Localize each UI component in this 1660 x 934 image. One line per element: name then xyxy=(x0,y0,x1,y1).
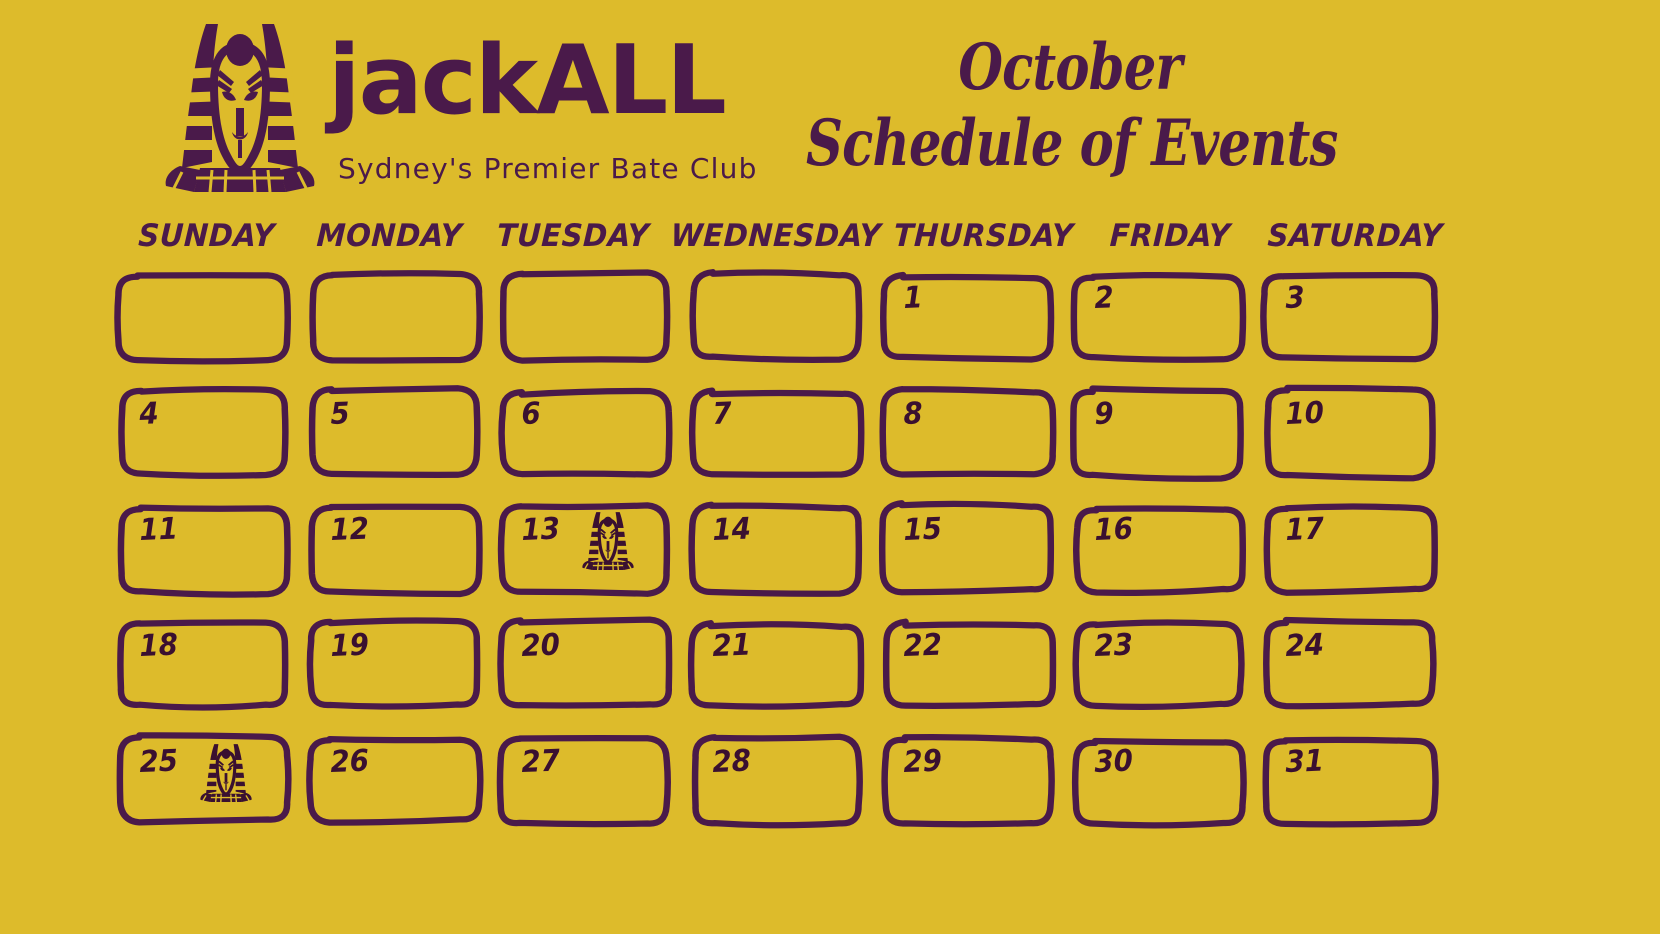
weekday-label: FRIDAY xyxy=(1109,218,1231,254)
calendar-day-18[interactable]: 18 xyxy=(113,616,304,732)
weekday-header-sunday: SUNDAY xyxy=(115,212,298,260)
day-number: 19 xyxy=(330,631,369,662)
anubis-head-icon xyxy=(160,12,320,192)
day-number: 4 xyxy=(139,399,159,430)
brand-tagline: Sydney's Premier Bate Club xyxy=(338,152,758,185)
day-number: 18 xyxy=(139,631,178,662)
calendar-day-empty[interactable] xyxy=(686,268,877,384)
day-cell-border xyxy=(690,272,863,362)
day-cell-border xyxy=(308,272,481,362)
day-number: 31 xyxy=(1285,747,1324,778)
calendar-day-15[interactable]: 15 xyxy=(877,500,1068,616)
day-cell-border xyxy=(117,272,290,362)
calendar-day-5[interactable]: 5 xyxy=(304,384,495,500)
day-number: 7 xyxy=(712,399,732,430)
day-number: 11 xyxy=(139,515,178,546)
day-number: 1 xyxy=(903,283,923,314)
weekday-label: WEDNESDAY xyxy=(670,218,882,254)
day-number: 13 xyxy=(521,515,560,546)
calendar-day-22[interactable]: 22 xyxy=(877,616,1068,732)
day-number: 30 xyxy=(1094,747,1133,778)
calendar-day-empty[interactable] xyxy=(113,268,304,384)
weekday-header-friday: FRIDAY xyxy=(1079,212,1262,260)
calendar-day-26[interactable]: 26 xyxy=(304,732,495,848)
calendar-day-14[interactable]: 14 xyxy=(686,500,877,616)
calendar-day-30[interactable]: 30 xyxy=(1068,732,1259,848)
calendar-day-29[interactable]: 29 xyxy=(877,732,1068,848)
calendar-day-19[interactable]: 19 xyxy=(304,616,495,732)
calendar-day-13[interactable]: 13 xyxy=(495,500,686,616)
day-number: 17 xyxy=(1285,515,1324,546)
day-number: 10 xyxy=(1285,399,1324,430)
calendar-day-17[interactable]: 17 xyxy=(1259,500,1450,616)
day-number: 2 xyxy=(1094,283,1114,314)
weekday-header-wednesday: WEDNESDAY xyxy=(664,212,888,260)
day-number: 28 xyxy=(712,747,751,778)
calendar-grid: 12345678910111213 xyxy=(113,268,1450,848)
brand-block: jackALL Sydney's Premier Bate Club xyxy=(160,12,700,192)
calendar-day-4[interactable]: 4 xyxy=(113,384,304,500)
calendar-day-7[interactable]: 7 xyxy=(686,384,877,500)
page-header: jackALL Sydney's Premier Bate Club Octob… xyxy=(0,0,1660,200)
calendar-day-21[interactable]: 21 xyxy=(686,616,877,732)
weekday-header-row: SUNDAYMONDAYTUESDAYWEDNESDAYTHURSDAYFRID… xyxy=(115,212,1448,260)
weekday-header-thursday: THURSDAY xyxy=(888,212,1079,260)
day-number: 20 xyxy=(521,631,560,662)
calendar-day-16[interactable]: 16 xyxy=(1068,500,1259,616)
calendar-day-25[interactable]: 25 xyxy=(113,732,304,848)
calendar-day-empty[interactable] xyxy=(304,268,495,384)
day-number: 3 xyxy=(1285,283,1305,314)
page-title-subtitle: Schedule of Events xyxy=(806,106,1334,182)
calendar-day-8[interactable]: 8 xyxy=(877,384,1068,500)
calendar-day-9[interactable]: 9 xyxy=(1068,384,1259,500)
day-number: 29 xyxy=(903,747,942,778)
calendar-day-11[interactable]: 11 xyxy=(113,500,304,616)
weekday-header-saturday: SATURDAY xyxy=(1262,212,1448,260)
calendar-day-20[interactable]: 20 xyxy=(495,616,686,732)
day-number: 5 xyxy=(330,399,350,430)
day-cell-border xyxy=(499,272,672,362)
brand-wordmark: jackALL xyxy=(328,34,725,129)
day-number: 27 xyxy=(521,747,560,778)
weekday-label: TUESDAY xyxy=(496,218,650,254)
day-number: 6 xyxy=(521,399,541,430)
day-number: 16 xyxy=(1094,515,1133,546)
day-number: 23 xyxy=(1094,631,1133,662)
calendar-day-10[interactable]: 10 xyxy=(1259,384,1450,500)
calendar-day-3[interactable]: 3 xyxy=(1259,268,1450,384)
calendar-day-12[interactable]: 12 xyxy=(304,500,495,616)
weekday-header-monday: MONDAY xyxy=(298,212,481,260)
calendar-day-28[interactable]: 28 xyxy=(686,732,877,848)
day-number: 9 xyxy=(1094,399,1114,430)
calendar-day-6[interactable]: 6 xyxy=(495,384,686,500)
calendar-day-31[interactable]: 31 xyxy=(1259,732,1450,848)
title-block: October Schedule of Events xyxy=(740,30,1400,182)
day-number: 22 xyxy=(903,631,942,662)
day-number: 26 xyxy=(330,747,369,778)
calendar-day-empty[interactable] xyxy=(495,268,686,384)
day-number: 24 xyxy=(1285,631,1324,662)
page-title-month: October xyxy=(806,30,1334,106)
anubis-head-icon[interactable] xyxy=(577,508,639,570)
day-number: 21 xyxy=(712,631,751,662)
calendar-day-27[interactable]: 27 xyxy=(495,732,686,848)
calendar-day-2[interactable]: 2 xyxy=(1068,268,1259,384)
calendar-day-24[interactable]: 24 xyxy=(1259,616,1450,732)
calendar-day-1[interactable]: 1 xyxy=(877,268,1068,384)
weekday-label: SUNDAY xyxy=(137,218,275,254)
weekday-header-tuesday: TUESDAY xyxy=(481,212,664,260)
weekday-label: THURSDAY xyxy=(893,218,1074,254)
anubis-head-icon[interactable] xyxy=(195,740,257,802)
day-number: 12 xyxy=(330,515,369,546)
weekday-label: SATURDAY xyxy=(1267,218,1444,254)
day-number: 25 xyxy=(139,747,178,778)
weekday-label: MONDAY xyxy=(316,218,463,254)
calendar-day-23[interactable]: 23 xyxy=(1068,616,1259,732)
day-number: 15 xyxy=(903,515,942,546)
day-number: 8 xyxy=(903,399,923,430)
day-number: 14 xyxy=(712,515,751,546)
